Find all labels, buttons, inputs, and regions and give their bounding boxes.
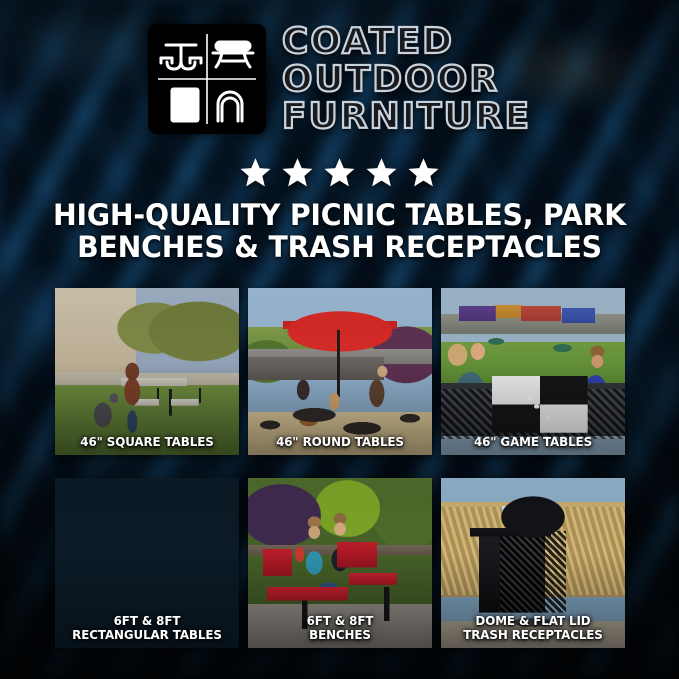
headline: HIGH-QUALITY PICNIC TABLES, PARK BENCHES… (40, 200, 638, 264)
product-caption-rectangular-tables: 6FT & 8FT RECTANGULAR TABLES (63, 614, 230, 641)
brand-logo: COATED OUTDOOR FURNITURE (0, 24, 679, 135)
caption-line: 46" ROUND TABLES (256, 435, 423, 448)
star-rating (0, 156, 679, 189)
banner-content: COATED OUTDOOR FURNITURE HIGH-QUALITY PI… (0, 0, 679, 679)
product-photo-round-tables (248, 288, 432, 455)
caption-line: TRASH RECEPTACLES (449, 628, 616, 641)
brand-wordmark: COATED OUTDOOR FURNITURE (282, 24, 531, 135)
product-photo-square-tables (55, 288, 239, 455)
caption-line: RECTANGULAR TABLES (63, 628, 230, 641)
star-icon (281, 156, 314, 189)
brand-word-coated: COATED (282, 24, 531, 60)
headline-line-1: HIGH-QUALITY PICNIC TABLES, PARK (40, 200, 638, 232)
product-caption-square-tables: 46" SQUARE TABLES (63, 435, 230, 448)
product-caption-benches: 6FT & 8FT BENCHES (256, 614, 423, 641)
product-card-square-tables[interactable]: 46" SQUARE TABLES (55, 288, 239, 455)
product-card-trash-receptacles[interactable]: DOME & FLAT LID TRASH RECEPTACLES (441, 478, 625, 648)
headline-line-2: BENCHES & TRASH RECEPTACLES (40, 232, 638, 264)
star-icon (323, 156, 356, 189)
star-icon (407, 156, 440, 189)
product-grid: 46" SQUARE TABLES 46" ROUND TABLES 46" G… (55, 288, 625, 648)
product-card-benches[interactable]: 6FT & 8FT BENCHES (248, 478, 432, 648)
coated-outdoor-furniture-banner: COATED OUTDOOR FURNITURE HIGH-QUALITY PI… (0, 0, 679, 679)
brand-word-furniture: FURNITURE (282, 99, 531, 135)
caption-line: 46" SQUARE TABLES (63, 435, 230, 448)
product-card-rectangular-tables[interactable]: 6FT & 8FT RECTANGULAR TABLES (55, 478, 239, 648)
product-card-round-tables[interactable]: 46" ROUND TABLES (248, 288, 432, 455)
product-caption-trash-receptacles: DOME & FLAT LID TRASH RECEPTACLES (449, 614, 616, 641)
caption-line: BENCHES (256, 628, 423, 641)
star-icon (365, 156, 398, 189)
star-icon (239, 156, 272, 189)
caption-line: 46" GAME TABLES (449, 435, 616, 448)
product-caption-round-tables: 46" ROUND TABLES (256, 435, 423, 448)
product-caption-game-tables: 46" GAME TABLES (449, 435, 616, 448)
coated-outdoor-furniture-logo-icon (148, 24, 266, 134)
brand-word-outdoor: OUTDOOR (282, 62, 531, 98)
product-card-game-tables[interactable]: 46" GAME TABLES (441, 288, 625, 455)
product-photo-game-tables (441, 288, 625, 455)
